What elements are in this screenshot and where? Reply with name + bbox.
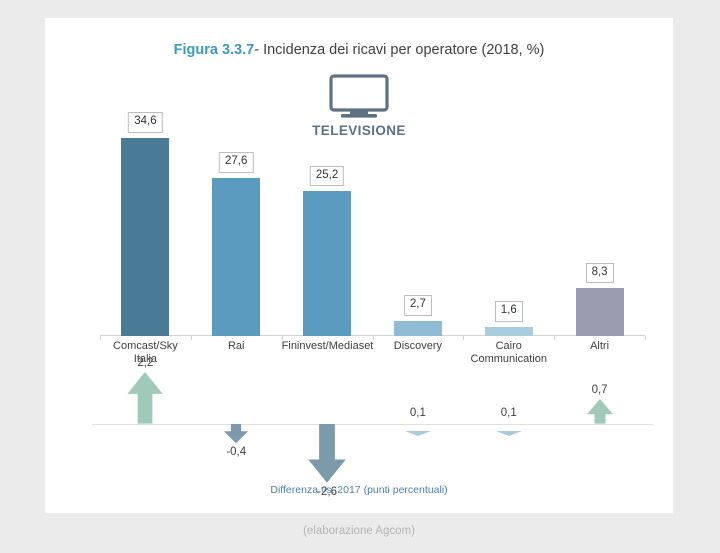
- bar: [212, 178, 260, 336]
- delta-group: 0,1: [373, 370, 464, 490]
- delta-caption: Differenza vs. 2017 (punti percentuali): [45, 484, 673, 496]
- bar-group: 1,6: [463, 118, 554, 336]
- delta-group: 0,1: [463, 370, 554, 490]
- television-icon: [328, 74, 390, 120]
- delta-arrow-flat-icon: [405, 423, 431, 441]
- bar-group: 34,6: [100, 118, 191, 336]
- bar-group: 25,2: [282, 118, 373, 336]
- category-label: Altri: [554, 340, 645, 353]
- delta-value-label: -0,4: [226, 446, 246, 458]
- bar-value-label: 1,6: [495, 301, 523, 322]
- bar: [576, 288, 624, 336]
- delta-arrow-flat-icon: [496, 423, 522, 441]
- page-title: Figura 3.3.7- Incidenza dei ricavi per o…: [45, 42, 673, 58]
- delta-group: 2,2: [100, 370, 191, 490]
- delta-group: -2,6: [282, 370, 373, 490]
- bar-group: 8,3: [554, 118, 645, 336]
- delta-group: -0,4: [191, 370, 282, 490]
- bar-value-label: 2,7: [404, 295, 432, 316]
- source-note: (elaborazione Agcom): [45, 525, 673, 537]
- axis-tick: [645, 336, 646, 340]
- bar-value-label: 27,6: [219, 152, 253, 173]
- category-label: Rai: [191, 340, 282, 353]
- bar-group: 2,7: [373, 118, 464, 336]
- bar: [485, 327, 533, 336]
- category-label: Fininvest/Mediaset: [282, 340, 373, 353]
- delta-value-label: 0,1: [501, 407, 517, 419]
- bar-chart-plot: 34,627,625,22,71,68,3: [100, 118, 645, 336]
- delta-value-label: 0,1: [410, 407, 426, 419]
- delta-group: 0,7: [554, 370, 645, 490]
- bar-value-label: 25,2: [310, 166, 344, 187]
- delta-value-label: 2,2: [137, 357, 153, 369]
- bar: [303, 191, 351, 336]
- delta-arrow-up-icon: [586, 399, 612, 429]
- bar: [394, 321, 442, 336]
- category-label: Cairo Communication: [463, 340, 554, 366]
- delta-arrow-down-icon: [308, 424, 346, 488]
- delta-value-label: 0,7: [592, 384, 608, 396]
- figure-card: Figura 3.3.7- Incidenza dei ricavi per o…: [45, 18, 673, 513]
- bar-group: 27,6: [191, 118, 282, 336]
- delta-arrows-area: 2,2-0,4-2,60,10,10,7: [100, 370, 645, 490]
- bar-value-label: 8,3: [586, 263, 614, 284]
- delta-arrow-down-icon: [224, 424, 248, 448]
- bar-value-label: 34,6: [128, 112, 162, 133]
- delta-arrow-up-icon: [128, 372, 163, 429]
- bar: [121, 138, 169, 336]
- figure-title-text: - Incidenza dei ricavi per operatore (20…: [254, 42, 544, 58]
- category-label: Discovery: [373, 340, 464, 353]
- figure-number: Figura 3.3.7: [174, 42, 255, 58]
